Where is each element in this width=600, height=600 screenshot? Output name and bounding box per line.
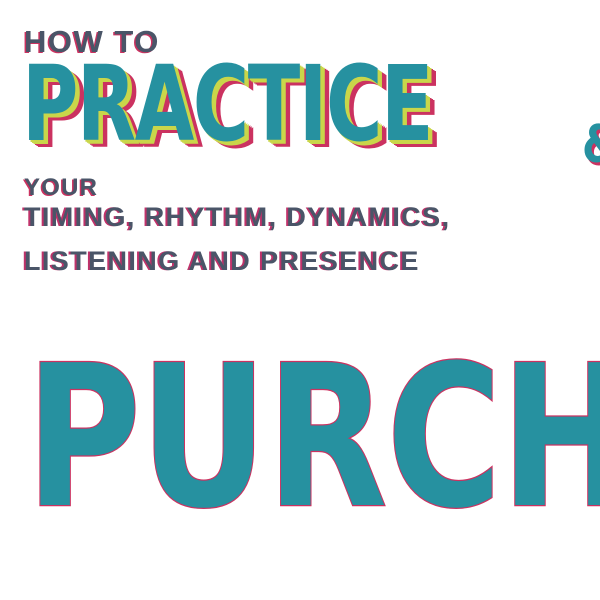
hero-ampersand: & — [582, 119, 600, 171]
hero-headline: PRACTICE&IMPROVE — [22, 52, 600, 172]
poster-canvas: HOW TO PRACTICE&IMPROVE YOUR TIMING, RHY… — [0, 0, 600, 600]
purchase-label[interactable]: PURCHASE — [26, 340, 600, 536]
subhead-line-1: TIMING, RHYTHM, DYNAMICS, — [24, 204, 451, 231]
purchase-cta[interactable]: PURCHASE — [26, 340, 586, 536]
subhead-line-2: LISTENING AND PRESENCE — [24, 248, 420, 275]
hero-word-practice: PRACTICE — [22, 52, 432, 156]
subhead-your-label: YOUR — [24, 176, 98, 200]
